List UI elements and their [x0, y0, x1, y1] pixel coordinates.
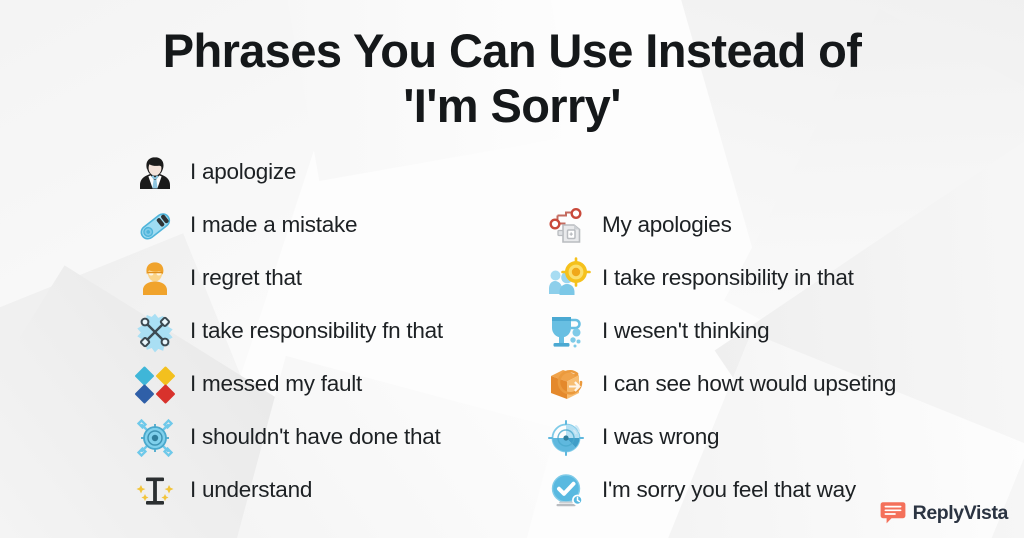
- orange-refresh-box-icon: [545, 363, 591, 407]
- phrase-label: I can see howt would upseting: [602, 372, 896, 397]
- phrase-item: I wesen't thinking: [545, 305, 965, 358]
- phrase-item: I take responsibility fn that: [133, 305, 533, 358]
- infographic-canvas: Phrases You Can Use Instead of 'I'm Sorr…: [0, 0, 1024, 538]
- phrase-item: I shouldn't have done that: [133, 411, 533, 464]
- phrase-label: I was wrong: [602, 425, 719, 450]
- phrase-item: I understand: [133, 464, 533, 517]
- speech-bubble-icon: [880, 500, 906, 526]
- phrase-label: I'm sorry you feel that way: [602, 478, 856, 503]
- title-line-2: 'I'm Sorry': [55, 79, 969, 134]
- phrase-label: I shouldn't have done that: [190, 425, 441, 450]
- blue-clock-pie-icon: [545, 416, 591, 460]
- businessman-icon: [133, 151, 179, 195]
- logo-text: ReplyVista: [913, 502, 1008, 525]
- phrase-label: I take responsibility fn that: [190, 319, 443, 344]
- phrase-label: I wesen't thinking: [602, 319, 769, 344]
- phrase-item: I messed my fault: [133, 358, 533, 411]
- phrase-item: I take responsibility in that: [545, 252, 965, 305]
- orange-person-icon: [133, 257, 179, 301]
- page-title: Phrases You Can Use Instead of 'I'm Sorr…: [0, 24, 1024, 134]
- blue-check-circle-icon: [545, 469, 591, 513]
- gold-coin-figures-icon: [545, 257, 591, 301]
- gold-sparkle-beam-icon: [133, 469, 179, 513]
- phrase-label: I apologize: [190, 160, 296, 185]
- blue-thermometer-icon: [133, 204, 179, 248]
- phrase-label: I take responsibility in that: [602, 266, 854, 291]
- replyvista-logo[interactable]: ReplyVista: [880, 500, 1008, 526]
- phrase-label: My apologies: [602, 213, 732, 238]
- phrase-item: I made a mistake: [133, 199, 533, 252]
- blue-trophy-cup-icon: [545, 310, 591, 354]
- phrase-label: I understand: [190, 478, 312, 503]
- network-nodes-icon: [545, 204, 591, 248]
- title-line-1: Phrases You Can Use Instead of: [55, 24, 969, 79]
- phrase-label: I messed my fault: [190, 372, 362, 397]
- phrase-item: My apologies: [545, 199, 965, 252]
- phrase-label: I regret that: [190, 266, 302, 291]
- blue-gear-target-icon: [133, 416, 179, 460]
- crossed-tools-icon: [133, 310, 179, 354]
- phrase-item: I can see howt would upseting: [545, 358, 965, 411]
- phrase-label: I made a mistake: [190, 213, 357, 238]
- phrase-item: I regret that: [133, 252, 533, 305]
- phrase-column-left: I apologize I made a: [133, 146, 533, 517]
- four-diamonds-icon: [133, 363, 179, 407]
- phrase-item: I apologize: [133, 146, 533, 199]
- phrase-item: I was wrong: [545, 411, 965, 464]
- phrase-column-right: My apologies: [545, 199, 965, 517]
